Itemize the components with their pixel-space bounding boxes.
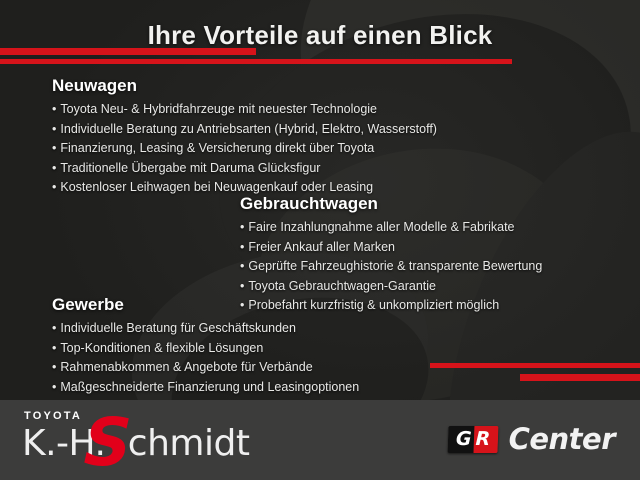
gr-center-logo: G R Center <box>448 416 615 462</box>
list-item-text: Top-Konditionen & flexible Lösungen <box>60 341 263 355</box>
list-item: •Faire Inzahlungnahme aller Modelle & Fa… <box>240 218 542 238</box>
bullet-icon: • <box>240 259 244 273</box>
list-item: •Traditionelle Übergabe mit Daruma Glück… <box>52 159 437 179</box>
section-title-gewerbe: Gewerbe <box>52 295 359 315</box>
advertisement-slide: Ihre Vorteile auf einen Blick Neuwagen •… <box>0 0 640 480</box>
list-item-text: Rahmenabkommen & Angebote für Verbände <box>60 360 312 374</box>
accent-rule-top-thick <box>0 48 256 55</box>
dealer-name-accent-s: S <box>83 412 133 474</box>
list-item-text: Individuelle Beratung zu Antriebsarten (… <box>60 122 437 136</box>
list-item-text: Geprüfte Fahrzeughistorie & transparente… <box>248 259 542 273</box>
bullet-icon: • <box>52 341 56 355</box>
list-item: •Individuelle Beratung zu Antriebsarten … <box>52 120 437 140</box>
bullet-icon: • <box>52 380 56 394</box>
section-title-gebrauchtwagen: Gebrauchtwagen <box>240 194 542 214</box>
list-item: •Toyota Gebrauchtwagen-Garantie <box>240 277 542 297</box>
gr-badge-letter-g: G <box>448 426 475 453</box>
gr-badge-letter-r: R <box>473 426 499 453</box>
bullet-icon: • <box>240 220 244 234</box>
list-item-text: Toyota Neu- & Hybridfahrzeuge mit neuest… <box>60 102 377 116</box>
dealer-name-suffix: chmidt <box>128 423 250 464</box>
toyota-wordmark: TOYOTA <box>24 410 82 422</box>
list-item-text: Freier Ankauf aller Marken <box>248 240 395 254</box>
list-item: •Individuelle Beratung für Geschäftskund… <box>52 319 359 339</box>
section-gewerbe: Gewerbe •Individuelle Beratung für Gesch… <box>52 295 359 397</box>
page-title: Ihre Vorteile auf einen Blick <box>0 20 640 51</box>
list-item-text: Traditionelle Übergabe mit Daruma Glücks… <box>60 161 320 175</box>
list-item-text: Finanzierung, Leasing & Versicherung dir… <box>60 141 374 155</box>
list-item: •Freier Ankauf aller Marken <box>240 238 542 258</box>
footer-bar: TOYOTA K.-H.Schmidt S G R Center <box>0 400 640 480</box>
list-item: •Toyota Neu- & Hybridfahrzeuge mit neues… <box>52 100 437 120</box>
bullet-icon: • <box>52 321 56 335</box>
bullet-icon: • <box>52 122 56 136</box>
bullet-icon: • <box>52 360 56 374</box>
dealer-logo: TOYOTA K.-H.Schmidt S <box>22 410 252 472</box>
accent-rule-bottom-thin <box>430 363 640 368</box>
accent-rule-bottom-thick <box>520 374 640 381</box>
bullet-icon: • <box>240 279 244 293</box>
list-item: •Finanzierung, Leasing & Versicherung di… <box>52 139 437 159</box>
list-item: •Top-Konditionen & flexible Lösungen <box>52 339 359 359</box>
list-item: •Rahmenabkommen & Angebote für Verbände <box>52 358 359 378</box>
section-list-neuwagen: •Toyota Neu- & Hybridfahrzeuge mit neues… <box>52 100 437 198</box>
bullet-icon: • <box>52 102 56 116</box>
section-neuwagen: Neuwagen •Toyota Neu- & Hybridfahrzeuge … <box>52 76 437 198</box>
bullet-icon: • <box>52 141 56 155</box>
section-list-gewerbe: •Individuelle Beratung für Geschäftskund… <box>52 319 359 397</box>
list-item-text: Faire Inzahlungnahme aller Modelle & Fab… <box>248 220 514 234</box>
list-item-text: Kostenloser Leihwagen bei Neuwagenkauf o… <box>60 180 373 194</box>
bullet-icon: • <box>52 180 56 194</box>
list-item-text: Maßgeschneiderte Finanzierung und Leasin… <box>60 380 359 394</box>
accent-rule-top-thin <box>0 59 512 64</box>
bullet-icon: • <box>240 240 244 254</box>
section-title-neuwagen: Neuwagen <box>52 76 437 96</box>
bullet-icon: • <box>52 161 56 175</box>
gr-badge-icon: G R <box>448 426 499 453</box>
dealer-name: K.-H.Schmidt <box>22 423 249 464</box>
list-item-text: Individuelle Beratung für Geschäftskunde… <box>60 321 296 335</box>
list-item-text: Toyota Gebrauchtwagen-Garantie <box>248 279 436 293</box>
gr-center-word: Center <box>509 422 615 456</box>
list-item: •Maßgeschneiderte Finanzierung und Leasi… <box>52 378 359 398</box>
list-item: •Geprüfte Fahrzeughistorie & transparent… <box>240 257 542 277</box>
